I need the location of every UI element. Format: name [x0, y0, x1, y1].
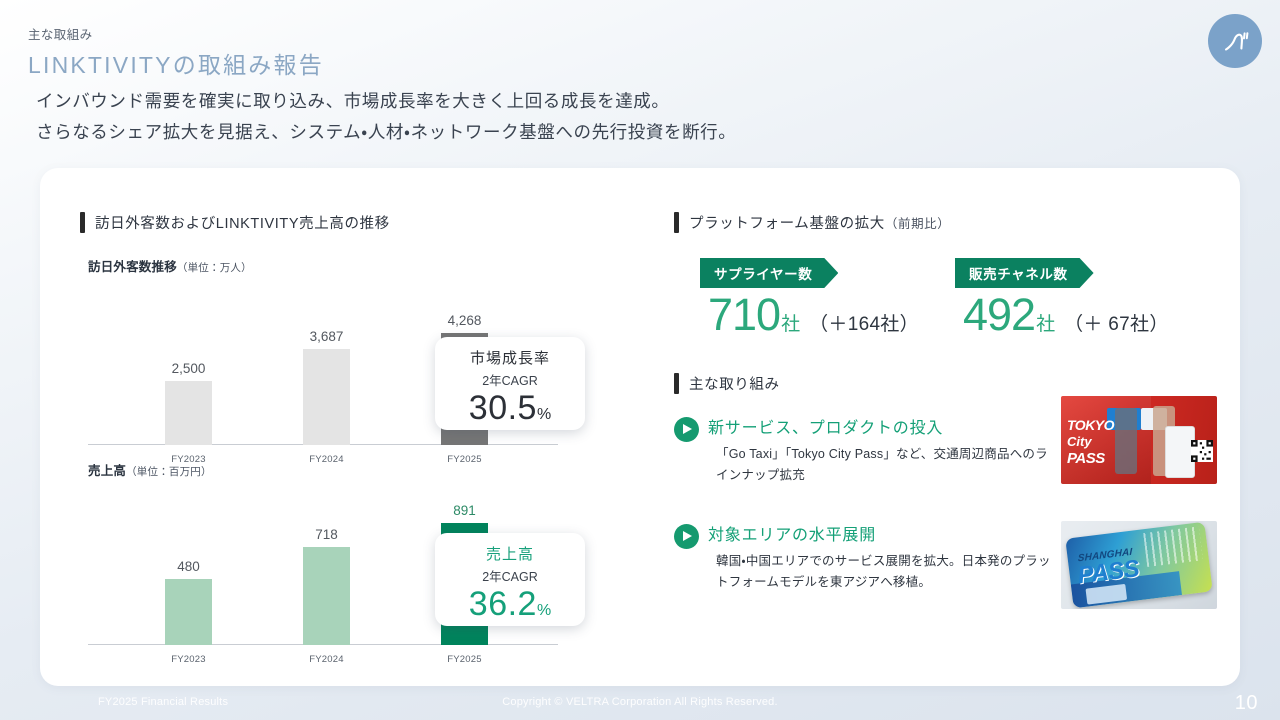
- footer-copyright: Copyright © VELTRA Corporation All Right…: [0, 696, 1280, 708]
- slide-root: 主な取組み LINKTIVITYの取組み報告 インバウンド需要を確実に取り込み、…: [0, 0, 1280, 720]
- chart-revenue-caption: 売上高（単位：百万円）: [88, 460, 558, 479]
- initiative-1-text: 新サービス、プロダクトの投入 「Go Taxi」「Tokyo City Pass…: [708, 416, 1054, 486]
- initiative-1-heading: 新サービス、プロダクトの投入: [708, 416, 1054, 441]
- eyebrow-label: 主な取組み: [28, 24, 93, 43]
- platform-section-title-sub: （前期比）: [885, 217, 951, 231]
- left-section-title: 訪日外客数およびLINKTIVITY売上高の推移: [95, 212, 390, 233]
- platform-section-title-main: プラットフォーム基盤の拡大: [689, 216, 885, 232]
- bar-column: [303, 547, 350, 645]
- initiative-2-body: 韓国・中国エリアでのサービス展開を拡大。日本発のプラットフォームモデルを東アジア…: [708, 551, 1054, 593]
- initiatives-section-heading: 主な取り組み: [674, 373, 780, 394]
- initiative-1-body: 「Go Taxi」「Tokyo City Pass」など、交通周辺商品へのライン…: [708, 444, 1054, 486]
- shanghai-pass-thumbnail: SHANGHAI PASS: [1061, 521, 1217, 609]
- callout-label: 市場成長率: [435, 347, 585, 368]
- initiative-2-text: 対象エリアの水平展開 韓国・中国エリアでのサービス展開を拡大。日本発のプラットフ…: [708, 523, 1054, 593]
- lead-line-1: インバウンド需要を確実に取り込み、市場成長率を大きく上回る成長を達成。: [36, 86, 1166, 117]
- bar-value: 480: [177, 559, 200, 574]
- play-icon: [674, 417, 699, 442]
- chart-visitors-unit: （単位：万人）: [177, 262, 252, 274]
- x-tick-label: FY2025: [447, 654, 481, 665]
- veltra-logo-icon: [1208, 14, 1262, 68]
- x-tick-label: FY2023: [171, 654, 205, 665]
- kpi-suppliers-value-row: 710 社 （＋164社）: [700, 290, 919, 340]
- thumb-person-1: [1115, 408, 1137, 474]
- section-accent-bar: [80, 212, 85, 233]
- kpi-suppliers-unit: 社: [781, 309, 800, 336]
- kpi-channels-value-row: 492 社 （＋ 67社）: [955, 290, 1169, 340]
- kpi-channels-number: 492: [963, 290, 1035, 340]
- bar-fy2023-visitors: 2,500 FY2023: [165, 381, 212, 445]
- callout-label: 売上高: [435, 543, 585, 564]
- chart-visitors-title: 訪日外客数推移: [88, 260, 177, 274]
- callout-number: 36.2: [469, 585, 537, 623]
- callout-number: 30.5: [469, 389, 537, 427]
- bar-value: 891: [453, 503, 476, 518]
- play-icon: [674, 524, 699, 549]
- pass-card-skyline: [1143, 526, 1203, 567]
- platform-section-title: プラットフォーム基盤の拡大（前期比）: [689, 212, 950, 233]
- bar-value: 718: [315, 527, 338, 542]
- kpi-suppliers-delta: （＋164社）: [809, 309, 919, 336]
- section-accent-bar: [674, 212, 679, 233]
- kpi-channels-unit: 社: [1036, 309, 1055, 336]
- initiative-2-heading: 対象エリアの水平展開: [708, 523, 1054, 548]
- chart-revenue: 売上高（単位：百万円） 480 FY2023 718 FY2024 891: [88, 460, 558, 667]
- platform-section-heading: プラットフォーム基盤の拡大（前期比）: [674, 212, 950, 233]
- chart-revenue-plot: 480 FY2023 718 FY2024 891 FY2025 売上高 2年C…: [88, 489, 558, 667]
- bar-column: [165, 381, 212, 445]
- kpi-channels-delta: （＋ 67社）: [1064, 309, 1169, 336]
- callout-value: 30.5%: [435, 387, 585, 436]
- bar-value: 3,687: [310, 329, 344, 344]
- lead-line-2: さらなるシェア拡大を見据え、システム・人材・ネットワーク基盤への先行投資を断行。: [36, 117, 1166, 148]
- thumb-qr-code-icon: [1191, 440, 1213, 462]
- chart-revenue-unit: （単位：百万円）: [126, 466, 212, 478]
- initiatives-section-title: 主な取り組み: [689, 373, 780, 394]
- chart-visitors-plot: 2,500 FY2023 3,687 FY2024 4,268 FY2025 市…: [88, 285, 558, 467]
- callout-revenue-cagr: 売上高 2年CAGR 36.2%: [435, 533, 585, 626]
- kpi-suppliers: サプライヤー数 710 社 （＋164社）: [700, 258, 919, 340]
- initiative-item-1: 新サービス、プロダクトの投入 「Go Taxi」「Tokyo City Pass…: [674, 416, 1054, 486]
- left-section-heading: 訪日外客数およびLINKTIVITY売上高の推移: [80, 212, 390, 233]
- initiative-item-2: 対象エリアの水平展開 韓国・中国エリアでのサービス展開を拡大。日本発のプラットフ…: [674, 523, 1054, 593]
- kpi-channels-tag: 販売チャネル数: [955, 258, 1094, 288]
- kpi-suppliers-tag: サプライヤー数: [700, 258, 838, 288]
- thumb-label-1: TOKYO: [1067, 418, 1114, 433]
- bar-fy2024-revenue: 718 FY2024: [303, 547, 350, 645]
- bar-column: [303, 349, 350, 445]
- thumb-label-2: City: [1067, 435, 1092, 449]
- chart-visitors-caption: 訪日外客数推移（単位：万人）: [88, 256, 558, 275]
- page-title: LINKTIVITYの取組み報告: [28, 46, 324, 80]
- bar-value: 2,500: [172, 361, 206, 376]
- bar-column: [165, 579, 212, 645]
- content-card: 訪日外客数およびLINKTIVITY売上高の推移 訪日外客数推移（単位：万人） …: [40, 168, 1240, 686]
- callout-market-growth: 市場成長率 2年CAGR 30.5%: [435, 337, 585, 430]
- callout-value: 36.2%: [435, 583, 585, 632]
- pass-card: SHANGHAI PASS: [1065, 522, 1212, 609]
- section-accent-bar: [674, 373, 679, 394]
- x-tick-label: FY2024: [309, 654, 343, 665]
- chart-visitors: 訪日外客数推移（単位：万人） 2,500 FY2023 3,687 FY2024…: [88, 256, 558, 467]
- chart-revenue-title: 売上高: [88, 464, 126, 478]
- tokyo-city-pass-thumbnail: TOKYO City PASS: [1061, 396, 1217, 484]
- callout-percent-sign: %: [537, 406, 551, 423]
- lead-paragraph: インバウンド需要を確実に取り込み、市場成長率を大きく上回る成長を達成。 さらなる…: [36, 86, 1166, 148]
- callout-percent-sign: %: [537, 602, 551, 619]
- logo: [1208, 14, 1262, 68]
- page-number: 10: [1235, 692, 1258, 715]
- bar-fy2024-visitors: 3,687 FY2024: [303, 349, 350, 445]
- kpi-channels: 販売チャネル数 492 社 （＋ 67社）: [955, 258, 1169, 340]
- kpi-suppliers-number: 710: [708, 290, 780, 340]
- bar-fy2023-revenue: 480 FY2023: [165, 579, 212, 645]
- thumb-label-3: PASS: [1067, 451, 1105, 467]
- bar-value: 4,268: [448, 313, 482, 328]
